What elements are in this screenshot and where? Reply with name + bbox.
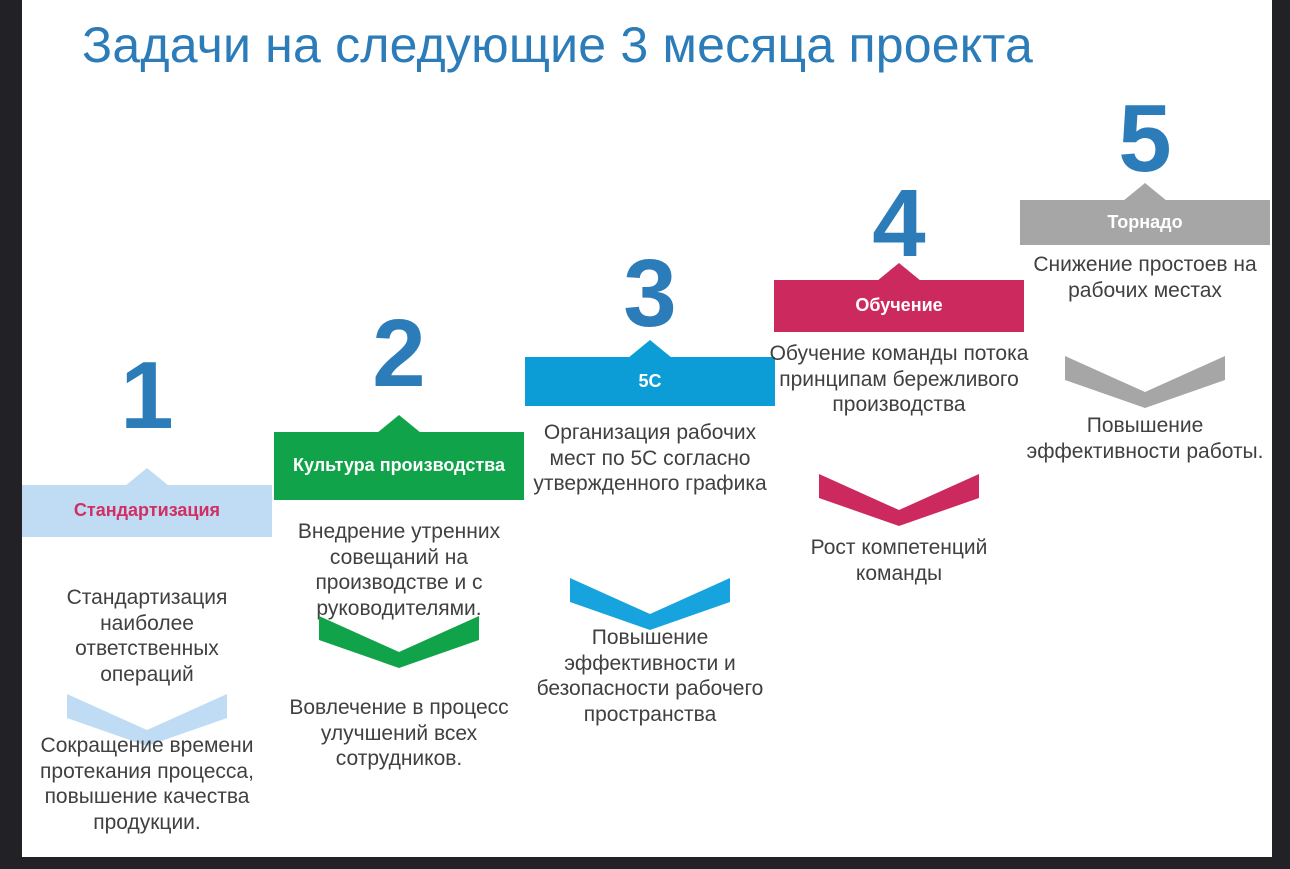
step-column-2: 2Культура производстваВнедрение утренних… [274,0,524,857]
step-label-5: Торнадо [1020,200,1270,245]
band-pointer-triangle-icon [628,340,672,358]
chevron-down-icon-4 [774,470,1024,526]
slide-canvas: Задачи на следующие 3 месяца проекта 1Ст… [22,0,1272,857]
band-pointer-triangle-icon [377,415,421,433]
step-result-text-1: Сокращение времени протекания процесса, … [22,733,284,835]
step-result-text-4: Рост компетенций команды [774,535,1024,586]
step-band-2[interactable]: Культура производства [274,432,524,500]
step-band-1[interactable]: Стандартизация [22,485,272,537]
steps-container: 1СтандартизацияСтандартизация наиболее о… [22,0,1272,857]
band-pointer-triangle-icon [1123,183,1167,201]
step-band-3[interactable]: 5С [525,357,775,406]
step-band-5[interactable]: Торнадо [1020,200,1270,245]
step-column-1: 1СтандартизацияСтандартизация наиболее о… [22,0,272,857]
step-action-text-2: Внедрение утренних совещаний на производ… [274,519,524,621]
step-number-3: 3 [525,250,775,338]
step-action-text-1: Стандартизация наиболее ответственных оп… [22,585,272,687]
chevron-down-icon-3 [525,574,775,630]
chevron-down-icon-2 [274,612,524,668]
step-label-2: Культура производства [274,432,524,500]
step-result-text-3: Повышение эффективности и безопасности р… [525,625,775,727]
step-label-4: Обучение [774,280,1024,332]
band-pointer-triangle-icon [125,468,169,486]
step-label-1: Стандартизация [22,485,272,537]
step-column-5: 5ТорнадоСнижение простоев на рабочих мес… [1020,0,1270,857]
step-action-text-5: Снижение простоев на рабочих местах [1008,252,1272,303]
band-pointer-triangle-icon [877,263,921,281]
step-result-text-5: Повышение эффективности работы. [1020,413,1270,464]
step-band-4[interactable]: Обучение [774,280,1024,332]
step-column-4: 4ОбучениеОбучение команды потока принцип… [774,0,1024,857]
step-number-5: 5 [1020,95,1270,183]
step-label-3: 5С [525,357,775,406]
step-column-3: 35СОрганизация рабочих мест по 5С соглас… [525,0,775,857]
chevron-down-icon-5 [1020,352,1270,408]
step-number-4: 4 [774,180,1024,268]
step-number-2: 2 [274,310,524,398]
slide-frame: Задачи на следующие 3 месяца проекта 1Ст… [0,0,1290,869]
step-action-text-3: Организация рабочих мест по 5С согласно … [525,420,775,497]
step-number-1: 1 [22,352,272,440]
step-result-text-2: Вовлечение в процесс улучшений всех сотр… [274,695,524,772]
step-action-text-4: Обучение команды потока принципам бережл… [762,341,1036,418]
